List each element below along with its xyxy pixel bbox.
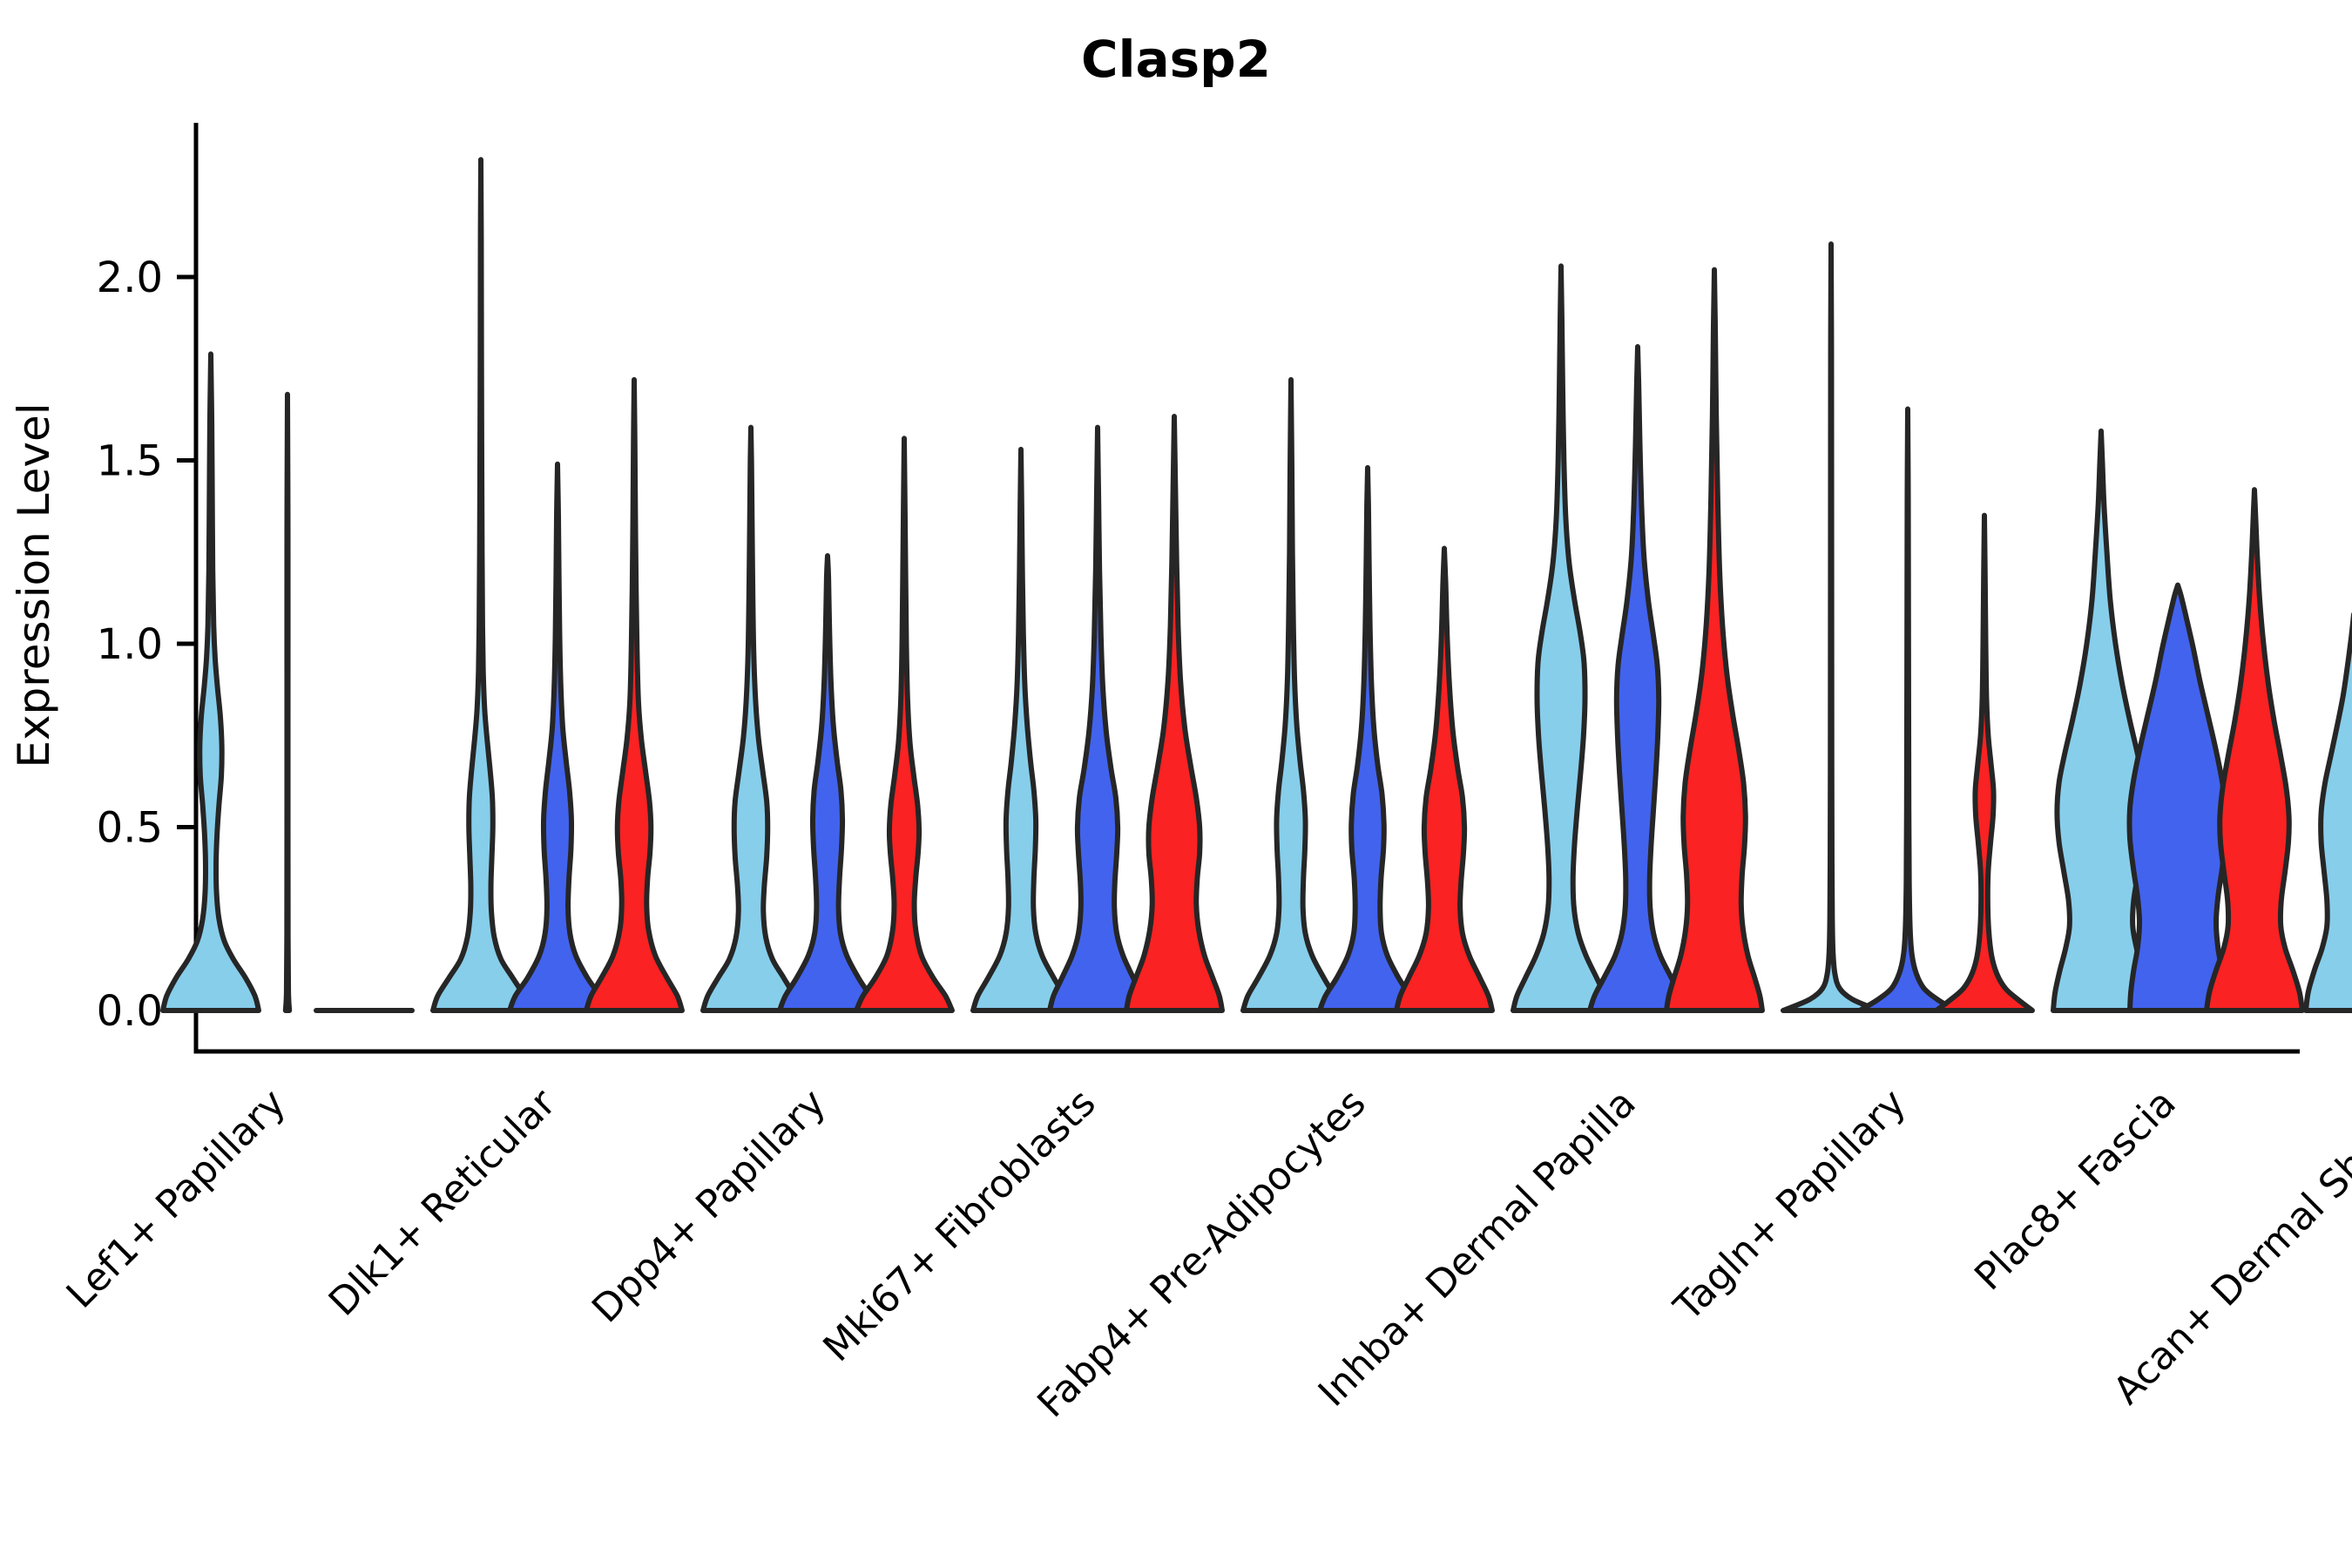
y-tick-label-1: 0.5 <box>97 804 163 853</box>
y-tick-label-2: 1.0 <box>97 620 163 669</box>
y-tick-label-3: 1.5 <box>97 437 163 486</box>
violin-plot-figure: Clasp2 0.00.51.01.52.0 Lef1+ PapillaryDl… <box>0 0 2352 1568</box>
y-tick-label-0: 0.0 <box>97 987 163 1036</box>
chart-canvas: Clasp2 0.00.51.01.52.0 Lef1+ PapillaryDl… <box>0 0 2352 1568</box>
y-tick-label-4: 2.0 <box>97 253 163 302</box>
violin-body[interactable] <box>286 395 289 1010</box>
chart-title: Clasp2 <box>1081 30 1271 89</box>
y-axis-label: Expression Level <box>9 402 59 767</box>
